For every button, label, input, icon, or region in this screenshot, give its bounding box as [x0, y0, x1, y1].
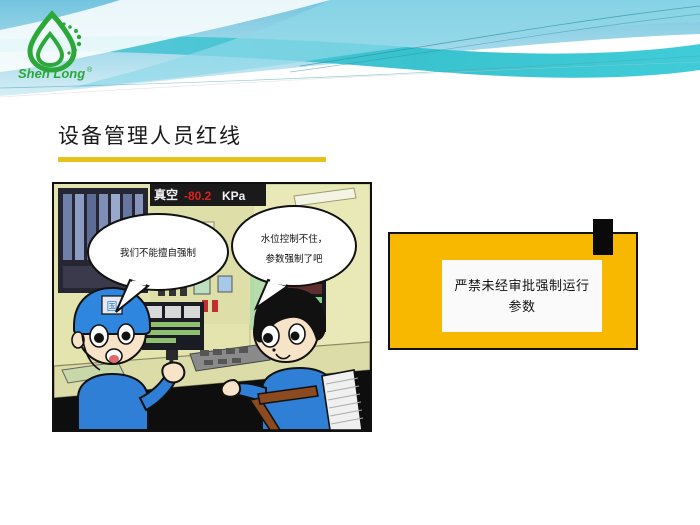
speech-bubble-right-line-1: 水位控制不住， [261, 233, 328, 245]
gauge-unit: KPa [222, 189, 246, 203]
control-room-scene: 真空 -80.2 KPa [54, 184, 370, 430]
droplet-inner-icon [38, 34, 62, 65]
warning-callout-tab [593, 219, 613, 255]
warning-callout-text: 严禁未经审批强制运行参数 [442, 275, 602, 317]
gauge-value: -80.2 [184, 189, 212, 203]
droplet-outline-icon [30, 14, 74, 70]
speech-bubble-left-line-1: 我们不能擅自强制 [120, 247, 196, 259]
logo-trademark-icon: ® [87, 66, 93, 74]
logo: Shen Long ® [8, 8, 104, 84]
wave-banner-graphic [0, 0, 700, 100]
title-underline-rule [58, 157, 326, 162]
title-block: 设备管理人员红线 [58, 122, 458, 162]
control-room-illustration: 真空 -80.2 KPa [52, 182, 372, 432]
logo-wordmark: Shen Long [18, 66, 85, 81]
gauge-label: 真空 [154, 187, 178, 202]
header-banner [0, 0, 700, 100]
shen-long-logo-graphic: Shen Long ® [8, 8, 104, 84]
slide-canvas: Shen Long ® 设备管理人员红线 [0, 0, 700, 525]
speech-bubble-right-line-2: 参数强制了吧 [265, 253, 323, 265]
warning-callout-inner: 严禁未经审批强制运行参数 [442, 260, 602, 332]
page-title: 设备管理人员红线 [58, 122, 458, 152]
